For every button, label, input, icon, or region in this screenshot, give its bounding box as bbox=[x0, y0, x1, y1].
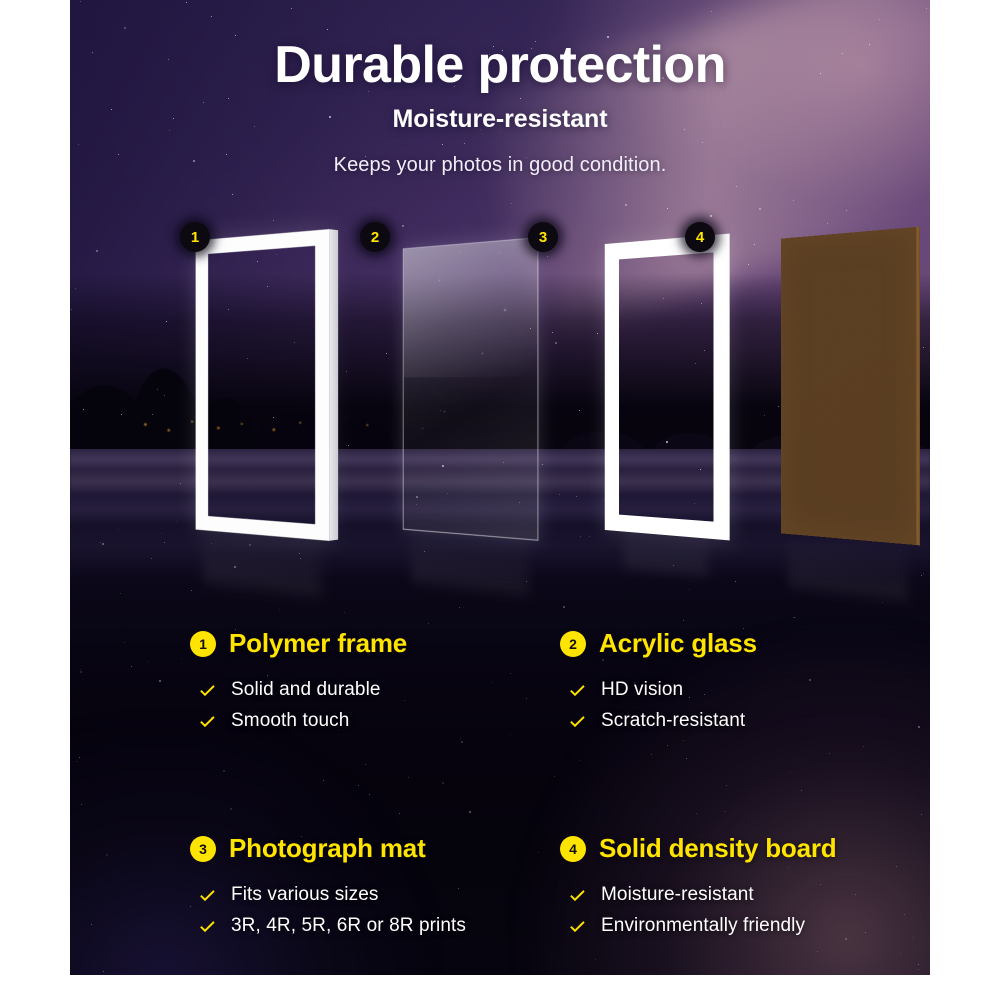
feature-bullet: Scratch-resistant bbox=[570, 710, 930, 732]
feature-bullet: Fits various sizes bbox=[200, 884, 560, 906]
feature-3: 3Photograph matFits various sizes3R, 4R,… bbox=[190, 833, 560, 946]
check-icon bbox=[570, 888, 585, 903]
density-board-part bbox=[781, 227, 917, 545]
photograph-mat-part bbox=[605, 234, 730, 541]
exploded-parts-diagram: 1 2 3 4 bbox=[70, 215, 930, 575]
feature-heading: 1Polymer frame bbox=[190, 628, 560, 659]
feature-title: Photograph mat bbox=[229, 833, 426, 864]
board-side-edge bbox=[916, 227, 920, 546]
check-icon bbox=[200, 919, 215, 934]
feature-2: 2Acrylic glassHD visionScratch-resistant bbox=[560, 628, 930, 741]
feature-title: Polymer frame bbox=[229, 628, 407, 659]
bullet-label: Environmentally friendly bbox=[601, 915, 805, 937]
check-icon bbox=[570, 919, 585, 934]
feature-4: 4Solid density boardMoisture-resistantEn… bbox=[560, 833, 930, 946]
feature-bullet: Smooth touch bbox=[200, 710, 560, 732]
bullet-label: Smooth touch bbox=[231, 710, 349, 732]
feature-title: Solid density board bbox=[599, 833, 836, 864]
feature-heading: 4Solid density board bbox=[560, 833, 930, 864]
frame-face bbox=[196, 229, 330, 541]
part-badge-3: 3 bbox=[528, 222, 558, 252]
bullet-label: 3R, 4R, 5R, 6R or 8R prints bbox=[231, 915, 466, 937]
feature-bullet: HD vision bbox=[570, 679, 930, 701]
check-icon bbox=[200, 683, 215, 698]
product-infographic: Durable protection Moisture-resistant Ke… bbox=[0, 0, 1000, 1000]
mat-reflection bbox=[624, 515, 707, 576]
feature-badge-1: 1 bbox=[190, 631, 216, 657]
feature-heading: 2Acrylic glass bbox=[560, 628, 930, 659]
page-subtitle: Moisture-resistant bbox=[70, 105, 930, 134]
feature-title: Acrylic glass bbox=[599, 628, 757, 659]
check-icon bbox=[570, 714, 585, 729]
bullet-label: Solid and durable bbox=[231, 679, 381, 701]
feature-bullet: 3R, 4R, 5R, 6R or 8R prints bbox=[200, 915, 560, 937]
polymer-frame-part bbox=[196, 229, 330, 541]
check-icon bbox=[200, 714, 215, 729]
feature-bullet: Environmentally friendly bbox=[570, 915, 930, 937]
feature-1: 1Polymer frameSolid and durableSmooth to… bbox=[190, 628, 560, 741]
check-icon bbox=[200, 888, 215, 903]
feature-bullet: Solid and durable bbox=[200, 679, 560, 701]
feature-badge-4: 4 bbox=[560, 836, 586, 862]
bullet-label: Moisture-resistant bbox=[601, 884, 754, 906]
header: Durable protection Moisture-resistant Ke… bbox=[70, 0, 930, 177]
frame-side-edge bbox=[329, 229, 338, 541]
page-title: Durable protection bbox=[70, 38, 930, 93]
bullet-label: Scratch-resistant bbox=[601, 710, 745, 732]
check-icon bbox=[570, 683, 585, 698]
feature-badge-3: 3 bbox=[190, 836, 216, 862]
feature-heading: 3Photograph mat bbox=[190, 833, 560, 864]
feature-badge-2: 2 bbox=[560, 631, 586, 657]
bullet-label: Fits various sizes bbox=[231, 884, 379, 906]
part-badge-1: 1 bbox=[180, 222, 210, 252]
part-badge-2: 2 bbox=[360, 222, 390, 252]
infographic-canvas: Durable protection Moisture-resistant Ke… bbox=[70, 0, 930, 975]
acrylic-glass-part bbox=[403, 237, 539, 541]
bullet-label: HD vision bbox=[601, 679, 683, 701]
part-badge-4: 4 bbox=[685, 222, 715, 252]
feature-bullet: Moisture-resistant bbox=[570, 884, 930, 906]
page-description: Keeps your photos in good condition. bbox=[70, 154, 930, 177]
feature-list: 1Polymer frameSolid and durableSmooth to… bbox=[70, 628, 930, 946]
